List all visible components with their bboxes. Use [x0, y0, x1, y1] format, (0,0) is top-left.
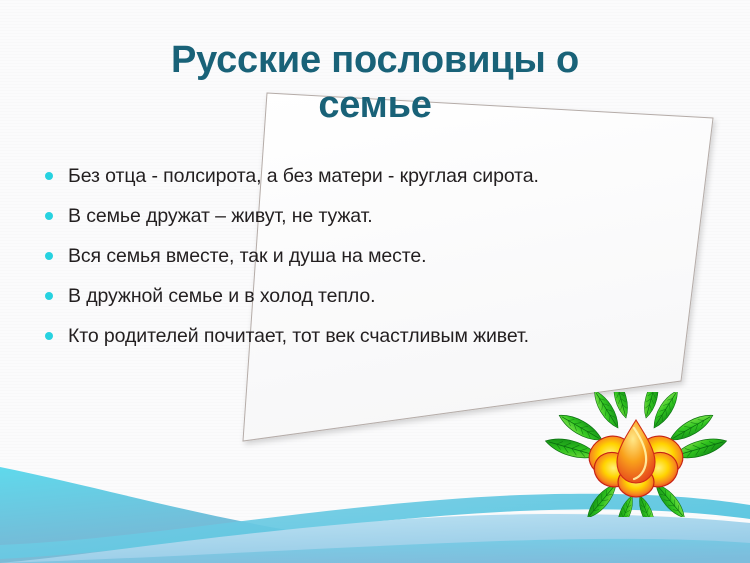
bullet-dot-icon — [45, 212, 53, 220]
list-item-label: Вся семья вместе, так и душа на месте. — [68, 245, 426, 267]
list-item: Вся семья вместе, так и душа на месте. — [38, 243, 678, 269]
list-item-label: Без отца - полсирота, а без матери - кру… — [68, 165, 539, 187]
presentation-slide: Русские пословицы о семье Без отца - пол… — [0, 0, 750, 563]
bullet-dot-icon — [45, 252, 53, 260]
list-item-label: В дружной семье и в холод тепло. — [68, 285, 375, 307]
bullet-dot-icon — [45, 172, 53, 180]
proverb-list: Без отца - полсирота, а без матери - кру… — [38, 163, 678, 349]
list-item: Без отца - полсирота, а без матери - кру… — [38, 163, 678, 189]
list-item: В дружной семье и в холод тепло. — [38, 283, 678, 309]
flower-petals — [583, 420, 689, 497]
list-item: Кто родителей почитает, тот век счастлив… — [38, 323, 678, 349]
page-title: Русские пословицы о семье — [95, 38, 655, 128]
list-item-label: Кто родителей почитает, тот век счастлив… — [68, 325, 529, 347]
list-item-label: В семье дружат – живут, не тужат. — [68, 205, 373, 227]
bullet-dot-icon — [45, 292, 53, 300]
list-item: В семье дружат – живут, не тужат. — [38, 203, 678, 229]
khokhloma-folk-flower-icon — [540, 392, 732, 517]
bullet-dot-icon — [45, 332, 53, 340]
